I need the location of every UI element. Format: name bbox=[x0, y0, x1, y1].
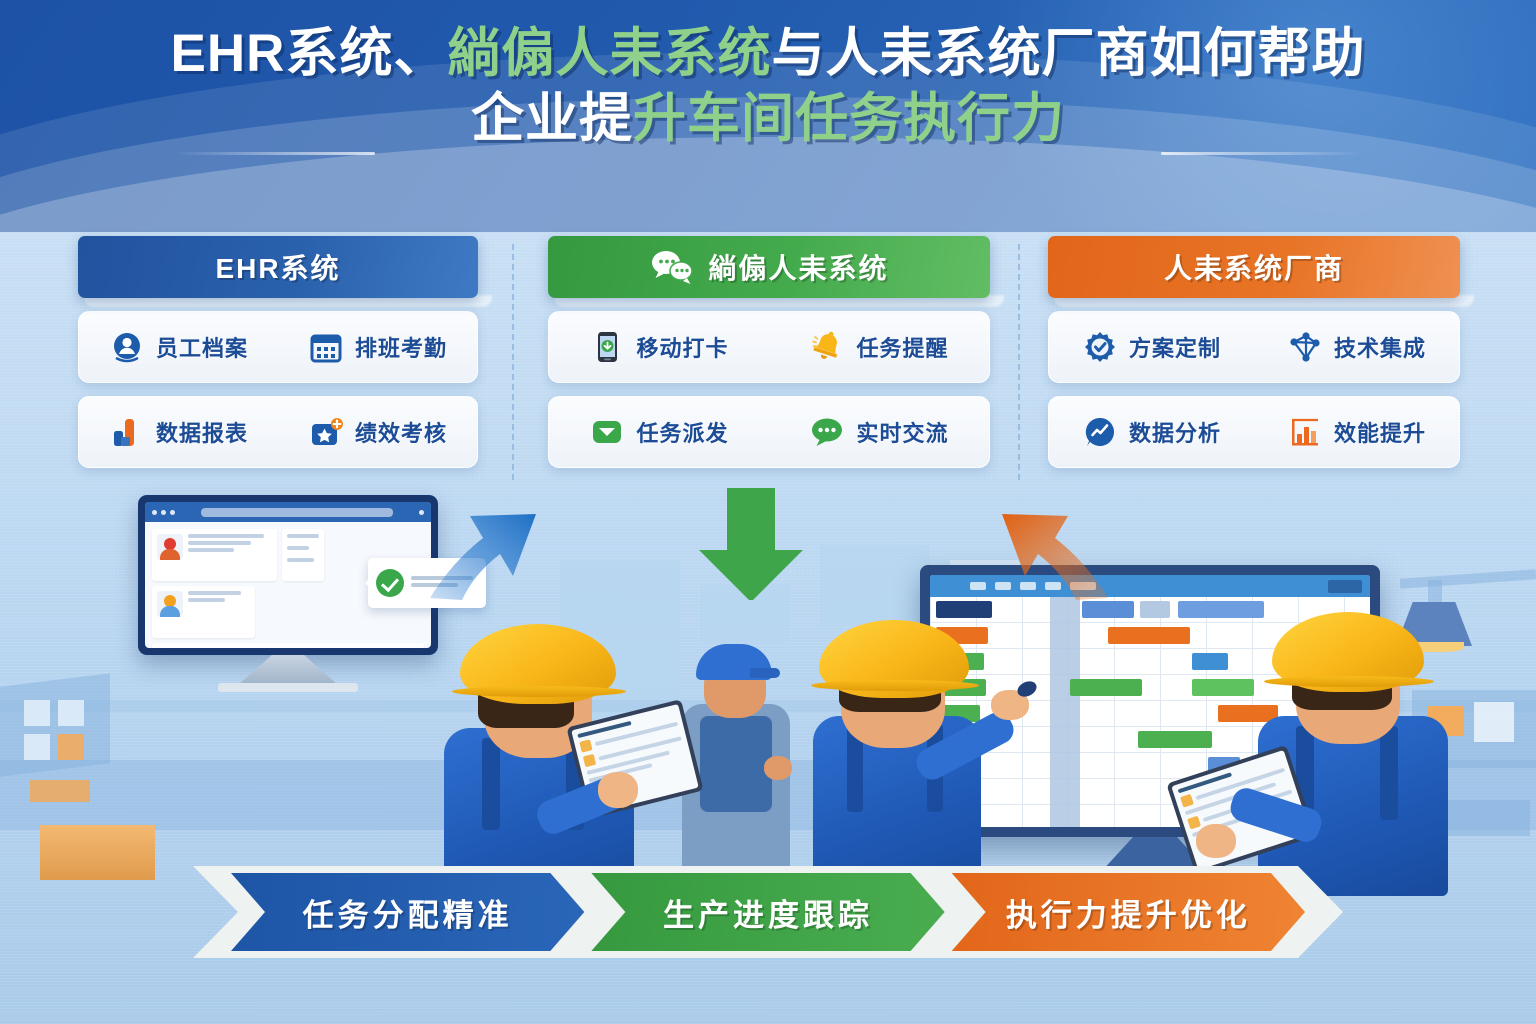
title-segment-white-a: EHR系统、 bbox=[171, 24, 448, 83]
gantt-task-bar bbox=[1108, 627, 1190, 644]
header-banner: EHR系统、緔傓人耒系统与人耒系统厂商如何帮助 企业提升车间任务执行力 bbox=[0, 0, 1536, 232]
feature-item-tech-integration[interactable]: 技术集成 bbox=[1254, 329, 1459, 365]
wechat-chat-bubbles-icon bbox=[649, 247, 695, 287]
arrow-to-center-icon bbox=[699, 488, 803, 600]
feature-label: 移动打卡 bbox=[636, 331, 728, 363]
title-rule-right bbox=[1161, 152, 1361, 155]
monitor-stand bbox=[238, 655, 338, 685]
feature-card: 数据分析 效能提升 bbox=[1048, 396, 1460, 468]
mobile-phone-icon bbox=[589, 329, 625, 365]
feature-label: 实时交流 bbox=[856, 416, 948, 448]
column-header-ehr[interactable]: EHR系统 bbox=[78, 236, 478, 298]
feature-item-data-analysis[interactable]: 数据分析 bbox=[1049, 414, 1254, 450]
feature-item-task-reminder[interactable]: 任务提醒 bbox=[769, 329, 989, 365]
feature-item-mobile-checkin[interactable]: 移动打卡 bbox=[549, 329, 769, 365]
feature-label: 效能提升 bbox=[1334, 416, 1426, 448]
calendar-icon bbox=[308, 329, 344, 365]
process-flow-steps: 任务分配精准 生产进度跟踪 执行力提升优化 bbox=[193, 873, 1343, 951]
flow-step-progress-tracking[interactable]: 生产进度跟踪 bbox=[591, 873, 944, 951]
infographic-canvas: EHR系统、緔傓人耒系统与人耒系统厂商如何帮助 企业提升车间任务执行力 EHR系… bbox=[0, 0, 1536, 1024]
feature-item-task-dispatch[interactable]: 任务派发 bbox=[549, 414, 769, 450]
flow-arrows bbox=[0, 470, 1536, 600]
feature-item-employee-profile[interactable]: 员工档案 bbox=[79, 329, 278, 365]
feature-label: 方案定制 bbox=[1129, 331, 1221, 363]
arrow-to-vendor-icon bbox=[1002, 514, 1108, 600]
message-envelope-icon bbox=[589, 414, 625, 450]
feature-label: 任务提醒 bbox=[856, 331, 948, 363]
flow-step-label: 生产进度跟踪 bbox=[663, 890, 873, 935]
flow-step-label: 执行力提升优化 bbox=[1006, 890, 1251, 935]
feature-card: 任务派发 实时交流 bbox=[548, 396, 990, 468]
column-hr-vendor: 人耒系统厂商 方案定制 bbox=[1048, 236, 1460, 468]
worker-with-tablet-left bbox=[440, 620, 690, 890]
bar-chart-icon bbox=[109, 414, 145, 450]
feature-item-custom-solution[interactable]: 方案定制 bbox=[1049, 329, 1254, 365]
column-header-label: EHR系统 bbox=[215, 247, 340, 287]
feature-label: 数据分析 bbox=[1129, 416, 1221, 448]
growth-chart-icon bbox=[1287, 414, 1323, 450]
column-header-wechat-hr[interactable]: 緔傓人耒系统 bbox=[548, 236, 990, 298]
feature-item-scheduling[interactable]: 排班考勤 bbox=[278, 329, 477, 365]
flow-step-label: 任务分配精准 bbox=[303, 890, 513, 935]
feature-columns: EHR系统 员工档案 bbox=[0, 236, 1536, 476]
worker-pointing-right bbox=[795, 618, 995, 890]
worker-with-tablet-right bbox=[1238, 612, 1478, 892]
column-ehr: EHR系统 员工档案 bbox=[78, 236, 478, 468]
feature-item-performance[interactable]: 绩效考核 bbox=[278, 414, 477, 450]
column-header-label: 緔傓人耒系统 bbox=[708, 247, 888, 287]
feature-card: 移动打卡 bbox=[548, 311, 990, 383]
feature-label: 任务派发 bbox=[636, 416, 728, 448]
feature-label: 排班考勤 bbox=[355, 331, 447, 363]
column-wechat-hr: 緔傓人耒系统 移动打卡 bbox=[548, 236, 990, 468]
feature-label: 员工档案 bbox=[156, 331, 248, 363]
gantt-row-label bbox=[936, 601, 992, 618]
gantt-task-bar bbox=[1140, 601, 1170, 618]
bell-notification-icon bbox=[809, 329, 845, 365]
employee-card bbox=[152, 643, 424, 648]
feature-item-data-report[interactable]: 数据报表 bbox=[79, 414, 278, 450]
feature-card: 方案定制 技术集成 bbox=[1048, 311, 1460, 383]
feature-card: 数据报表 绩效考核 bbox=[78, 396, 478, 468]
analytics-bubble-icon bbox=[1082, 414, 1118, 450]
flow-step-task-assignment[interactable]: 任务分配精准 bbox=[231, 873, 584, 951]
feature-card: 员工档案 排班考勤 bbox=[78, 311, 478, 383]
gantt-highlight-column bbox=[1050, 597, 1080, 827]
title-line-2: 企业提升车间任务执行力 bbox=[0, 87, 1536, 152]
gantt-task-bar bbox=[1192, 653, 1228, 670]
monitor-base bbox=[218, 683, 358, 692]
arrow-to-ehr-icon bbox=[430, 514, 536, 600]
feature-item-efficiency-boost[interactable]: 效能提升 bbox=[1254, 414, 1459, 450]
feature-label: 绩效考核 bbox=[355, 416, 447, 448]
column-header-label: 人耒系统厂商 bbox=[1164, 247, 1344, 287]
gantt-task-bar bbox=[1082, 601, 1134, 618]
star-badge-icon bbox=[308, 414, 344, 450]
feature-label: 技术集成 bbox=[1334, 331, 1426, 363]
title-segment-green-b: 升车间任务执行力 bbox=[633, 89, 1065, 148]
chat-bubble-icon bbox=[809, 414, 845, 450]
user-avatar-icon bbox=[109, 329, 145, 365]
gear-check-icon bbox=[1082, 329, 1118, 365]
title-rule-left bbox=[175, 152, 375, 155]
title-segment-green-a: 緔傓人耒系统 bbox=[447, 24, 771, 83]
page-title: EHR系统、緔傓人耒系统与人耒系统厂商如何帮助 企业提升车间任务执行力 bbox=[0, 22, 1536, 151]
flow-step-execution-optimization[interactable]: 执行力提升优化 bbox=[952, 873, 1305, 951]
gantt-task-bar bbox=[1070, 679, 1142, 696]
column-header-hr-vendor[interactable]: 人耒系统厂商 bbox=[1048, 236, 1460, 298]
title-line-1: EHR系统、緔傓人耒系统与人耒系统厂商如何帮助 bbox=[0, 22, 1536, 87]
network-nodes-icon bbox=[1287, 329, 1323, 365]
gantt-task-bar bbox=[1138, 731, 1212, 748]
feature-item-realtime-chat[interactable]: 实时交流 bbox=[769, 414, 989, 450]
feature-label: 数据报表 bbox=[156, 416, 248, 448]
title-segment-white-b: 与人耒系统厂商如何帮助 bbox=[771, 24, 1365, 83]
title-segment-white-c: 企业提 bbox=[471, 89, 633, 148]
